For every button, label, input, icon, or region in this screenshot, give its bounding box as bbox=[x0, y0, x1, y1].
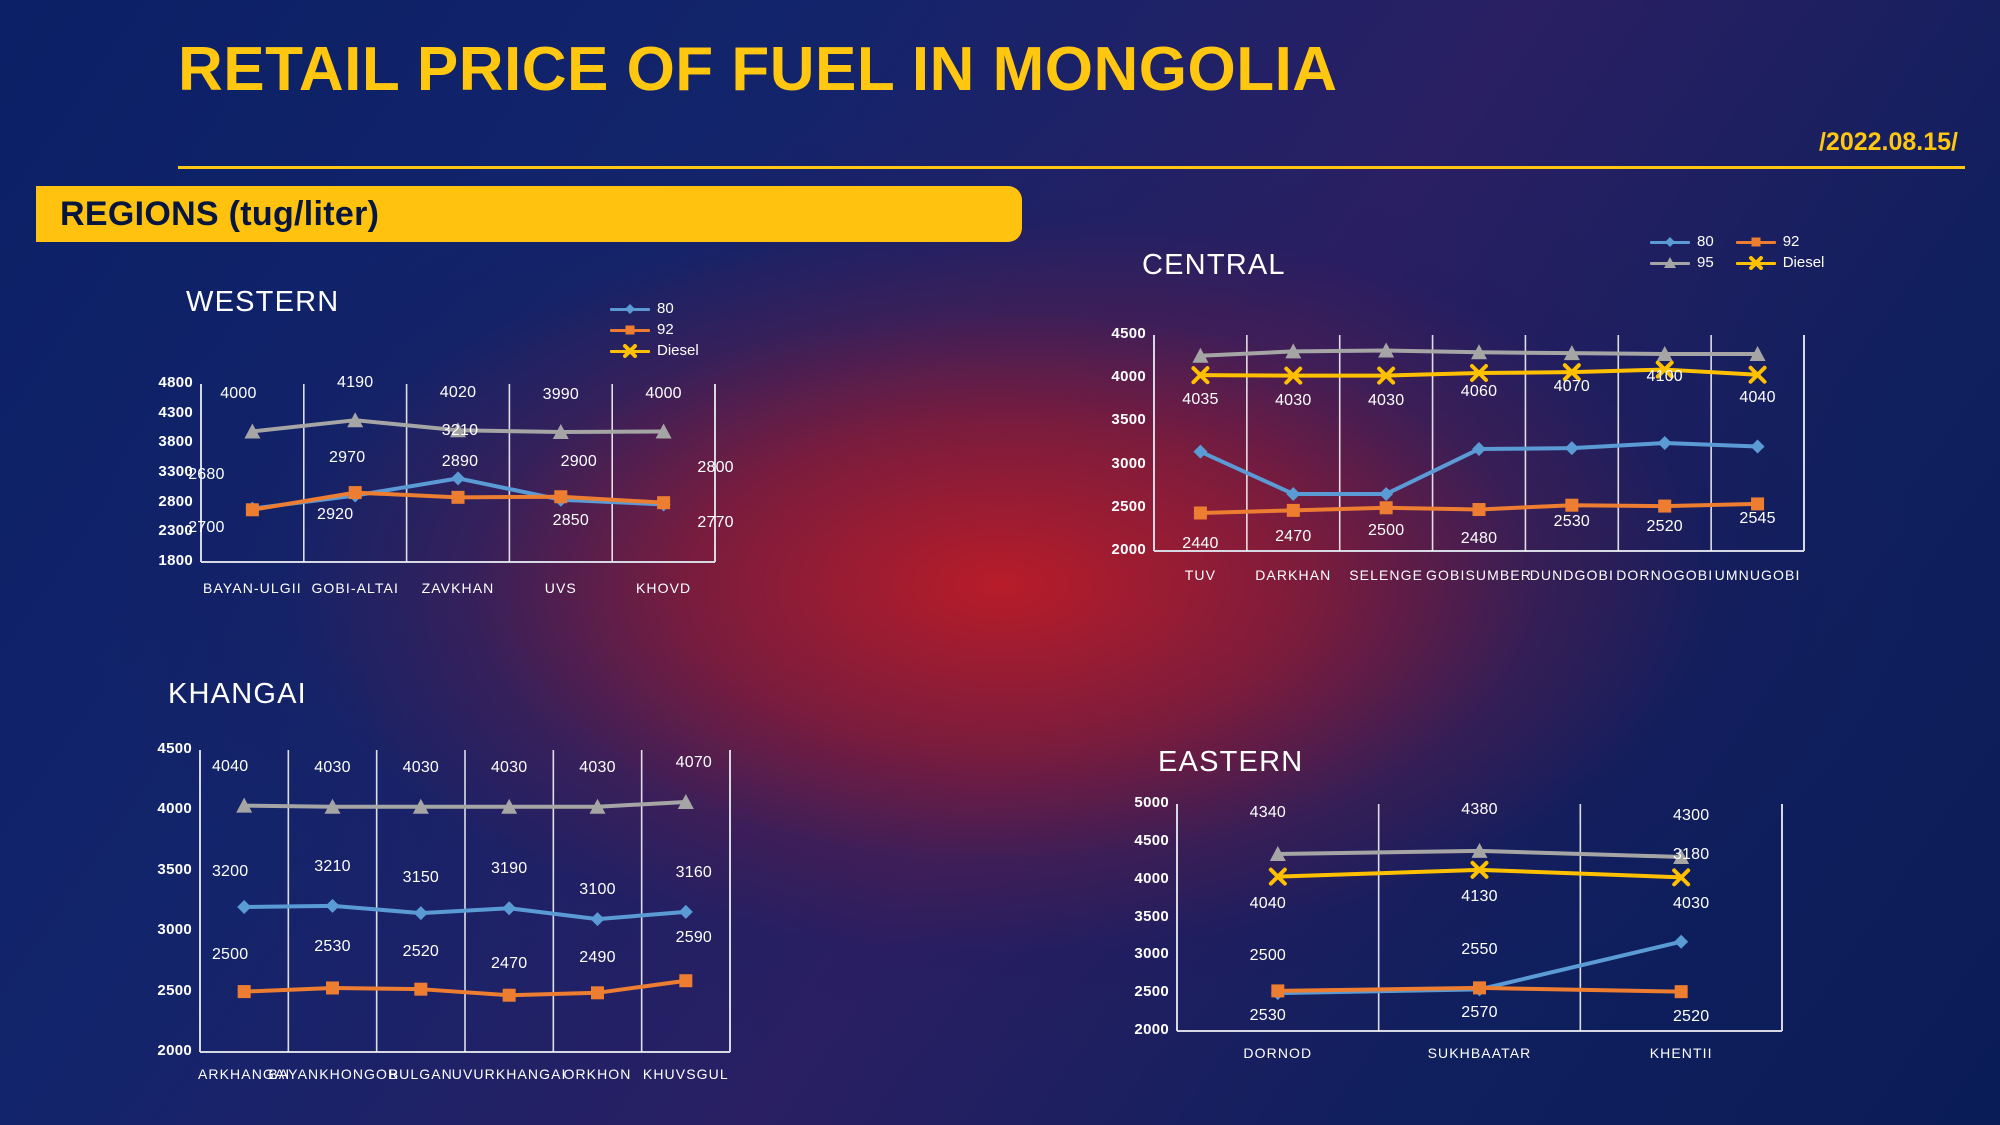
y-axis-tick: 3800 bbox=[131, 433, 193, 450]
data-label: 2470 bbox=[1253, 528, 1333, 546]
data-label: 4030 bbox=[1253, 392, 1333, 410]
chart-khangai-svg bbox=[128, 736, 738, 1066]
data-label: 3150 bbox=[381, 869, 461, 887]
legend-label: 80 bbox=[657, 300, 674, 317]
legend-92-icon bbox=[610, 323, 650, 337]
y-axis-tick: 4500 bbox=[130, 740, 192, 757]
slide-background: RETAIL PRICE OF FUEL IN MONGOLIA /2022.0… bbox=[0, 0, 2000, 1125]
data-label: 4040 bbox=[190, 758, 270, 776]
data-label: 2770 bbox=[676, 514, 756, 532]
data-label: 2470 bbox=[469, 955, 549, 973]
regions-chip: REGIONS (tug/liter) bbox=[36, 186, 1022, 242]
regions-chip-label: REGIONS (tug/liter) bbox=[36, 195, 379, 234]
y-axis-tick: 4000 bbox=[1084, 368, 1146, 385]
eastern-title: EASTERN bbox=[1158, 746, 1303, 779]
x-axis-label: KHENTII bbox=[1560, 1045, 1802, 1061]
data-label: 2800 bbox=[676, 459, 756, 477]
data-label: 2500 bbox=[1346, 522, 1426, 540]
data-label: 2480 bbox=[1439, 530, 1519, 548]
legend-label: Diesel bbox=[657, 342, 699, 359]
legend-diesel-icon bbox=[610, 344, 650, 358]
legend-item-92[interactable]: 92 bbox=[610, 321, 674, 338]
y-axis-tick: 3500 bbox=[1084, 411, 1146, 428]
data-label: 2545 bbox=[1718, 510, 1798, 528]
data-label: 4000 bbox=[624, 385, 704, 403]
data-label: 4070 bbox=[1532, 378, 1612, 396]
data-label: 2490 bbox=[558, 949, 638, 967]
y-axis-tick: 4500 bbox=[1107, 832, 1169, 849]
legend-diesel-icon bbox=[1736, 256, 1776, 270]
data-label: 4130 bbox=[1440, 888, 1520, 906]
legend-item-diesel[interactable]: Diesel bbox=[610, 342, 699, 359]
central-chart[interactable]: 200025003000350040004500TUVDARKHANSELENG… bbox=[1082, 325, 1812, 563]
x-axis-label: KHUVSGUL bbox=[622, 1066, 750, 1082]
data-label: 2680 bbox=[166, 466, 246, 484]
data-label: 4300 bbox=[1651, 807, 1731, 825]
data-label: 4340 bbox=[1228, 804, 1308, 822]
y-axis-tick: 2500 bbox=[1107, 983, 1169, 1000]
y-axis-tick: 2800 bbox=[131, 493, 193, 510]
data-label: 4030 bbox=[381, 759, 461, 777]
eastern-chart[interactable]: 2000250030003500400045005000DORNODSUKHBA… bbox=[1105, 790, 1790, 1045]
legend-item-92[interactable]: 92 bbox=[1736, 233, 1800, 250]
data-label: 2900 bbox=[539, 453, 619, 471]
data-label: 2890 bbox=[420, 453, 500, 471]
y-axis-tick: 3500 bbox=[1107, 908, 1169, 925]
data-label: 2520 bbox=[1651, 1008, 1731, 1026]
legend-label: 80 bbox=[1697, 233, 1714, 250]
data-label: 2970 bbox=[307, 449, 387, 467]
legend-95-icon bbox=[1650, 256, 1690, 270]
data-label: 2530 bbox=[1228, 1007, 1308, 1025]
data-label: 2500 bbox=[1228, 947, 1308, 965]
data-label: 2920 bbox=[295, 506, 375, 524]
legend-92-icon bbox=[1736, 235, 1776, 249]
data-label: 3990 bbox=[521, 386, 601, 404]
legend-item-80[interactable]: 80 bbox=[610, 300, 674, 317]
page-title: RETAIL PRICE OF FUEL IN MONGOLIA bbox=[178, 34, 1338, 105]
khangai-chart[interactable]: 200025003000350040004500ARKHANGAIBAYANKH… bbox=[128, 736, 738, 1066]
y-axis-tick: 4300 bbox=[131, 404, 193, 421]
data-label: 4030 bbox=[1651, 895, 1731, 913]
legend-80-icon bbox=[610, 302, 650, 316]
y-axis-tick: 4500 bbox=[1084, 325, 1146, 342]
data-label: 4035 bbox=[1160, 391, 1240, 409]
legend-item-diesel[interactable]: Diesel bbox=[1736, 254, 1825, 271]
data-label: 2520 bbox=[1625, 518, 1705, 536]
data-label: 4030 bbox=[293, 759, 373, 777]
data-label: 2440 bbox=[1160, 535, 1240, 553]
data-label: 4070 bbox=[654, 754, 734, 772]
data-label: 3100 bbox=[558, 881, 638, 899]
y-axis-tick: 4000 bbox=[1107, 870, 1169, 887]
y-axis-tick: 3000 bbox=[1084, 455, 1146, 472]
legend-label: 92 bbox=[1783, 233, 1800, 250]
data-label: 2520 bbox=[381, 943, 461, 961]
y-axis-tick: 5000 bbox=[1107, 794, 1169, 811]
y-axis-tick: 2500 bbox=[130, 982, 192, 999]
data-label: 2590 bbox=[654, 929, 734, 947]
central-title: CENTRAL bbox=[1142, 249, 1286, 282]
data-label: 2700 bbox=[166, 519, 246, 537]
data-label: 3180 bbox=[1651, 846, 1731, 864]
data-label: 4030 bbox=[469, 759, 549, 777]
y-axis-tick: 4000 bbox=[130, 800, 192, 817]
data-label: 2530 bbox=[293, 938, 373, 956]
data-label: 2850 bbox=[531, 512, 611, 530]
legend-80-icon bbox=[1650, 235, 1690, 249]
data-label: 4000 bbox=[198, 385, 278, 403]
legend-item-80[interactable]: 80 bbox=[1650, 233, 1714, 250]
data-label: 3210 bbox=[420, 422, 500, 440]
central-legend: 809295Diesel bbox=[1650, 233, 1870, 275]
data-label: 4020 bbox=[418, 384, 498, 402]
data-label: 3200 bbox=[190, 863, 270, 881]
western-legend: 8092Diesel bbox=[610, 300, 721, 363]
y-axis-tick: 4800 bbox=[131, 374, 193, 391]
y-axis-tick: 3500 bbox=[130, 861, 192, 878]
data-label: 2570 bbox=[1440, 1004, 1520, 1022]
data-label: 4380 bbox=[1440, 801, 1520, 819]
y-axis-tick: 2000 bbox=[130, 1042, 192, 1059]
western-title: WESTERN bbox=[186, 286, 339, 319]
legend-label: 95 bbox=[1697, 254, 1714, 271]
data-label: 4040 bbox=[1228, 895, 1308, 913]
data-label: 4030 bbox=[1346, 392, 1426, 410]
data-label: 2500 bbox=[190, 946, 270, 964]
y-axis-tick: 3000 bbox=[1107, 945, 1169, 962]
data-label: 4100 bbox=[1625, 368, 1705, 386]
legend-item-95[interactable]: 95 bbox=[1650, 254, 1714, 271]
x-axis-label: UMNUGOBI bbox=[1691, 567, 1824, 583]
data-label: 4190 bbox=[315, 374, 395, 392]
data-label: 3160 bbox=[654, 864, 734, 882]
legend-label: Diesel bbox=[1783, 254, 1825, 271]
data-label: 2530 bbox=[1532, 513, 1612, 531]
data-label: 2550 bbox=[1440, 941, 1520, 959]
y-axis-tick: 2000 bbox=[1084, 541, 1146, 558]
data-label: 3190 bbox=[469, 860, 549, 878]
data-label: 4060 bbox=[1439, 383, 1519, 401]
y-axis-tick: 3000 bbox=[130, 921, 192, 938]
khangai-title: KHANGAI bbox=[168, 678, 307, 711]
data-label: 4030 bbox=[558, 759, 638, 777]
data-label: 4040 bbox=[1718, 389, 1798, 407]
western-chart[interactable]: 1800230028003300380043004800BAYAN-ULGIIG… bbox=[133, 374, 723, 572]
y-axis-tick: 2000 bbox=[1107, 1021, 1169, 1038]
y-axis-tick: 1800 bbox=[131, 552, 193, 569]
legend-label: 92 bbox=[657, 321, 674, 338]
date-stamp: /2022.08.15/ bbox=[1819, 128, 1958, 157]
x-axis-label: KHOVD bbox=[592, 580, 735, 596]
data-label: 3210 bbox=[293, 858, 373, 876]
title-divider bbox=[178, 166, 1965, 169]
y-axis-tick: 2500 bbox=[1084, 498, 1146, 515]
